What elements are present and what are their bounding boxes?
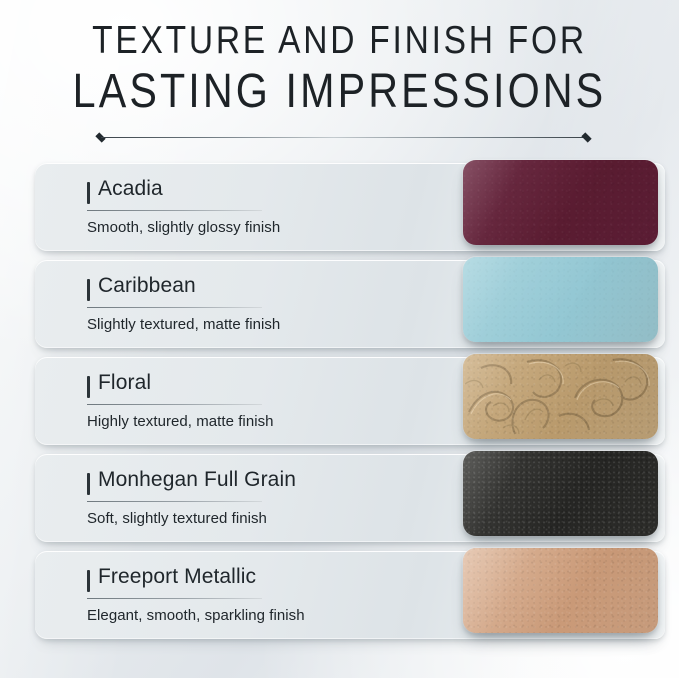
list-item[interactable]: Caribbean Slightly textured, matte finis…: [0, 260, 679, 357]
accent-bar: [87, 182, 90, 204]
swatch-sheen: [463, 354, 658, 439]
swatch-description: Slightly textured, matte finish: [87, 316, 280, 333]
swatch-name: Floral: [98, 371, 151, 395]
swatch-description: Elegant, smooth, sparkling finish: [87, 607, 305, 624]
page-title-line-1: TEXTURE AND FINISH FOR: [48, 18, 632, 64]
poster-header: TEXTURE AND FINISH FOR LASTING IMPRESSIO…: [0, 18, 679, 119]
diamond-right-icon: [581, 132, 591, 142]
color-swatch[interactable]: [463, 451, 658, 536]
swatch-sheen: [463, 548, 658, 633]
color-swatch[interactable]: [463, 160, 658, 245]
accent-bar: [87, 570, 90, 592]
swatch-name: Caribbean: [98, 274, 196, 298]
list-item[interactable]: Floral Highly textured, matte finish: [0, 357, 679, 454]
color-swatch[interactable]: [463, 548, 658, 633]
swatch-description: Smooth, slightly glossy finish: [87, 219, 280, 236]
swatch-sheen: [463, 160, 658, 245]
divider-rule: [101, 137, 586, 138]
swatch-description: Soft, slightly textured finish: [87, 510, 267, 527]
title-divider: [95, 131, 592, 145]
row-underline: [87, 307, 262, 308]
swatch-sheen: [463, 257, 658, 342]
swatch-name: Freeport Metallic: [98, 565, 256, 589]
row-underline: [87, 404, 262, 405]
row-underline: [87, 598, 262, 599]
swatch-name: Monhegan Full Grain: [98, 468, 296, 492]
swatch-description: Highly textured, matte finish: [87, 413, 274, 430]
accent-bar: [87, 473, 90, 495]
infographic-poster: TEXTURE AND FINISH FOR LASTING IMPRESSIO…: [0, 0, 679, 678]
accent-bar: [87, 279, 90, 301]
list-item[interactable]: Monhegan Full Grain Soft, slightly textu…: [0, 454, 679, 551]
swatch-list: Acadia Smooth, slightly glossy finish Ca…: [0, 163, 679, 648]
swatch-sheen: [463, 451, 658, 536]
color-swatch[interactable]: [463, 354, 658, 439]
row-underline: [87, 501, 262, 502]
row-underline: [87, 210, 262, 211]
swatch-name: Acadia: [98, 177, 163, 201]
list-item[interactable]: Acadia Smooth, slightly glossy finish: [0, 163, 679, 260]
list-item[interactable]: Freeport Metallic Elegant, smooth, spark…: [0, 551, 679, 648]
color-swatch[interactable]: [463, 257, 658, 342]
accent-bar: [87, 376, 90, 398]
page-title-line-2: LASTING IMPRESSIONS: [48, 64, 632, 119]
